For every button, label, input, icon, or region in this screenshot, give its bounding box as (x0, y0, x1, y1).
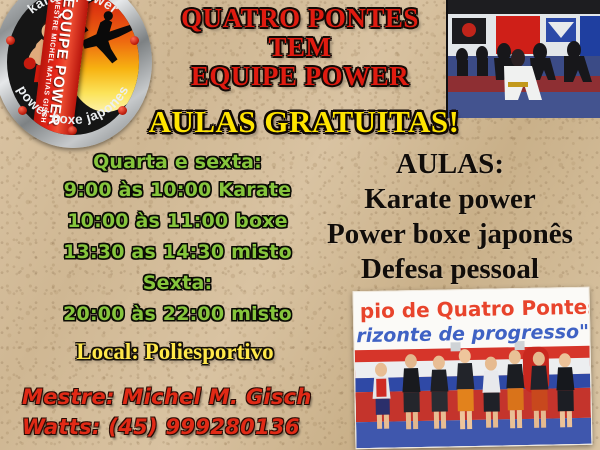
dojo-photo-graphic (448, 0, 600, 118)
logo-dot-icon (6, 36, 15, 45)
schedule-line-5: 20:00 às 22:00 misto (35, 302, 320, 327)
logo-dot-icon (130, 36, 139, 45)
whatsapp-line: Watts: (45) 999280136 (22, 415, 300, 440)
schedule-line-0: Quarta e sexta: (35, 150, 320, 175)
class-item-2: Defesa pessoal (300, 253, 600, 286)
schedule-line-1: 9:00 às 10:00 Karate (35, 178, 320, 203)
karate-demonstration-photo (446, 0, 600, 118)
logo-dot-icon (68, 126, 77, 135)
class-item-1: Power boxe japonês (298, 218, 600, 251)
kids-team-group-photo: pio de Quatro Pontes rizonte de progress… (353, 287, 593, 450)
schedule-line-4: Sexta: (35, 271, 320, 296)
class-item-0: Karate power (300, 183, 600, 216)
poster-canvas: EQUIPE POWER MESTRE MICHEL MATIAS GISCH … (0, 0, 600, 450)
kids-photo-graphic: pio de Quatro Pontes rizonte de progress… (354, 288, 592, 448)
master-name-line: Mestre: Michel M. Gisch (22, 385, 312, 410)
classes-heading: AULAS: (300, 148, 600, 181)
svg-text:rizonte de progresso": rizonte de progresso" (356, 321, 589, 347)
location-line: Local: Poliesportivo (30, 338, 320, 365)
logo-dot-icon (18, 106, 27, 115)
headline-line-3: EQUIPE POWER (148, 62, 452, 91)
headline-line-1: QUATRO PONTES (150, 4, 450, 33)
svg-text:pio de Quatro Pontes: pio de Quatro Pontes (360, 295, 592, 324)
free-classes-banner: AULAS GRATUITAS! (118, 105, 490, 139)
headline-line-2: TEM (150, 33, 450, 62)
schedule-line-3: 13:30 as 14:30 misto (35, 240, 320, 265)
schedule-line-2: 10:00 às 11:00 boxe (35, 209, 320, 234)
